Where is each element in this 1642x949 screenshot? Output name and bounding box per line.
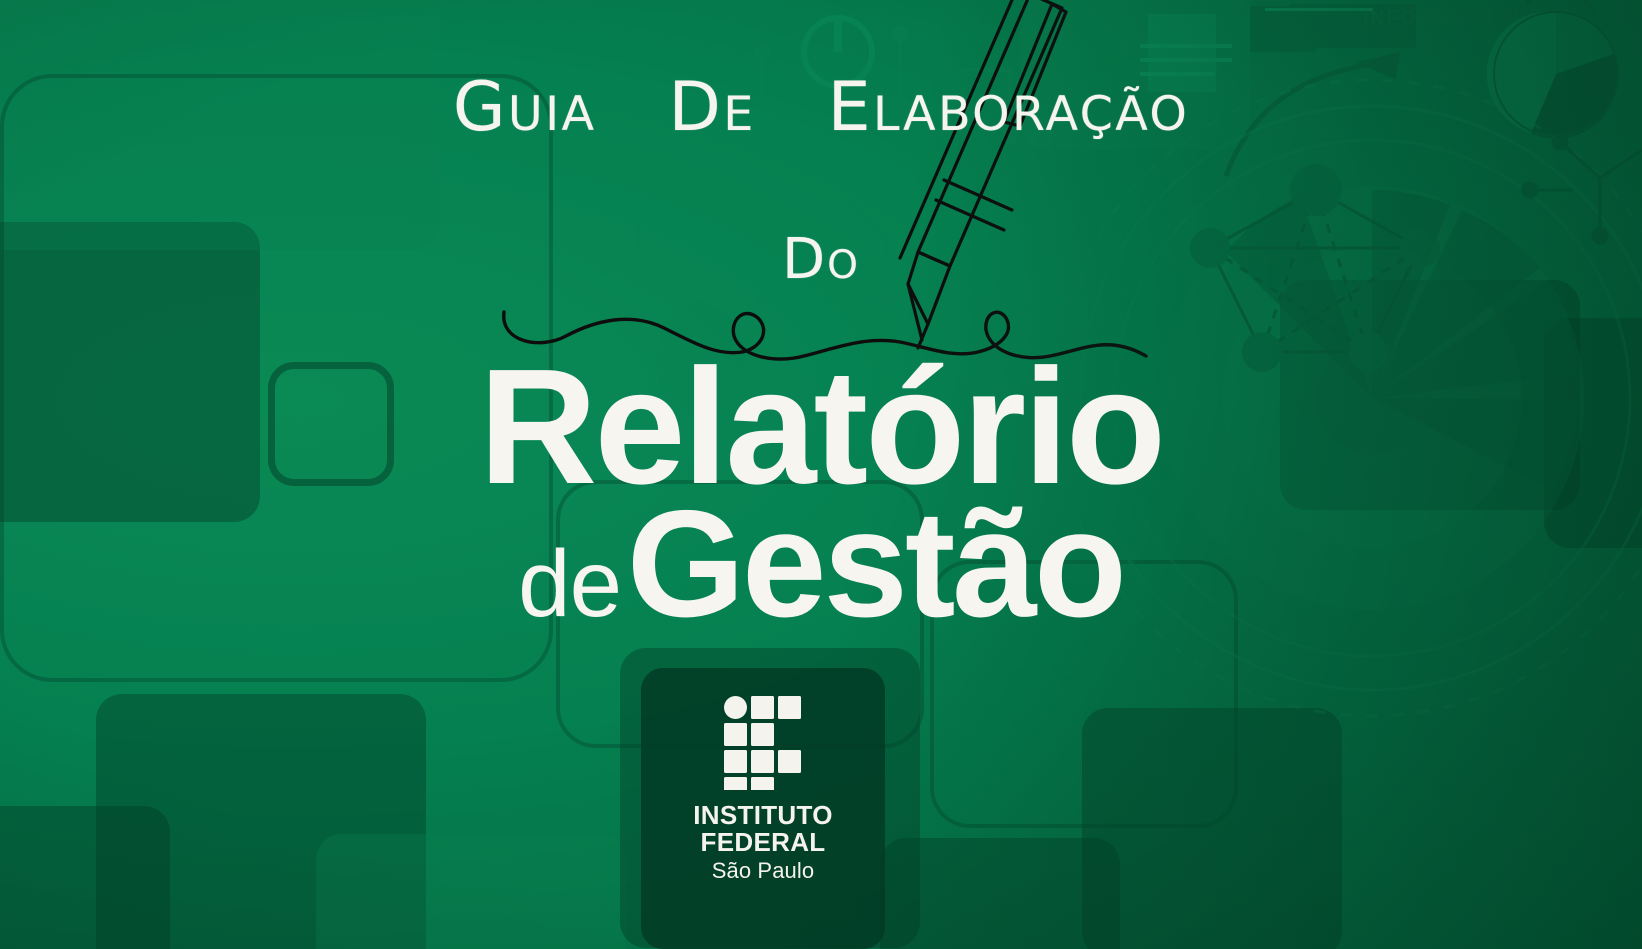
headline-smallcaps: UIA (508, 87, 597, 142)
headline-cap: G (453, 68, 508, 147)
logo-line-sao-paulo: São Paulo (693, 859, 833, 882)
cover-slide: INFORMATION (0, 0, 1642, 949)
logo-line-federal: FEDERAL (693, 829, 833, 856)
headline-cap: D (782, 227, 827, 292)
headline-smallcaps: E (723, 87, 755, 142)
headline-word-guia: GUIA (453, 68, 597, 147)
title-gestao-row: deGestão (0, 492, 1642, 636)
title-connector-de: de (518, 531, 621, 636)
logo-wordmark: INSTITUTO FEDERAL São Paulo (693, 802, 833, 882)
headline-smallcaps: O (827, 243, 860, 288)
headline-word-do: DO (782, 227, 860, 292)
headline-cap: E (828, 68, 873, 147)
headline-word-de: DE (668, 68, 755, 147)
headline-line-1: GUIA DE ELABORAÇÃO (0, 74, 1642, 142)
if-mark-icon (724, 696, 802, 790)
logo-line-instituto: INSTITUTO (693, 802, 833, 829)
title-gestao: Gestão (627, 479, 1124, 649)
instituto-federal-logo: INSTITUTO FEDERAL São Paulo (641, 668, 885, 949)
headline-word-elaboracao: ELABORAÇÃO (828, 68, 1190, 147)
headline-line-2: DO (0, 232, 1642, 288)
headline-cap: D (668, 68, 723, 147)
headline-smallcaps: LABORAÇÃO (873, 87, 1189, 142)
